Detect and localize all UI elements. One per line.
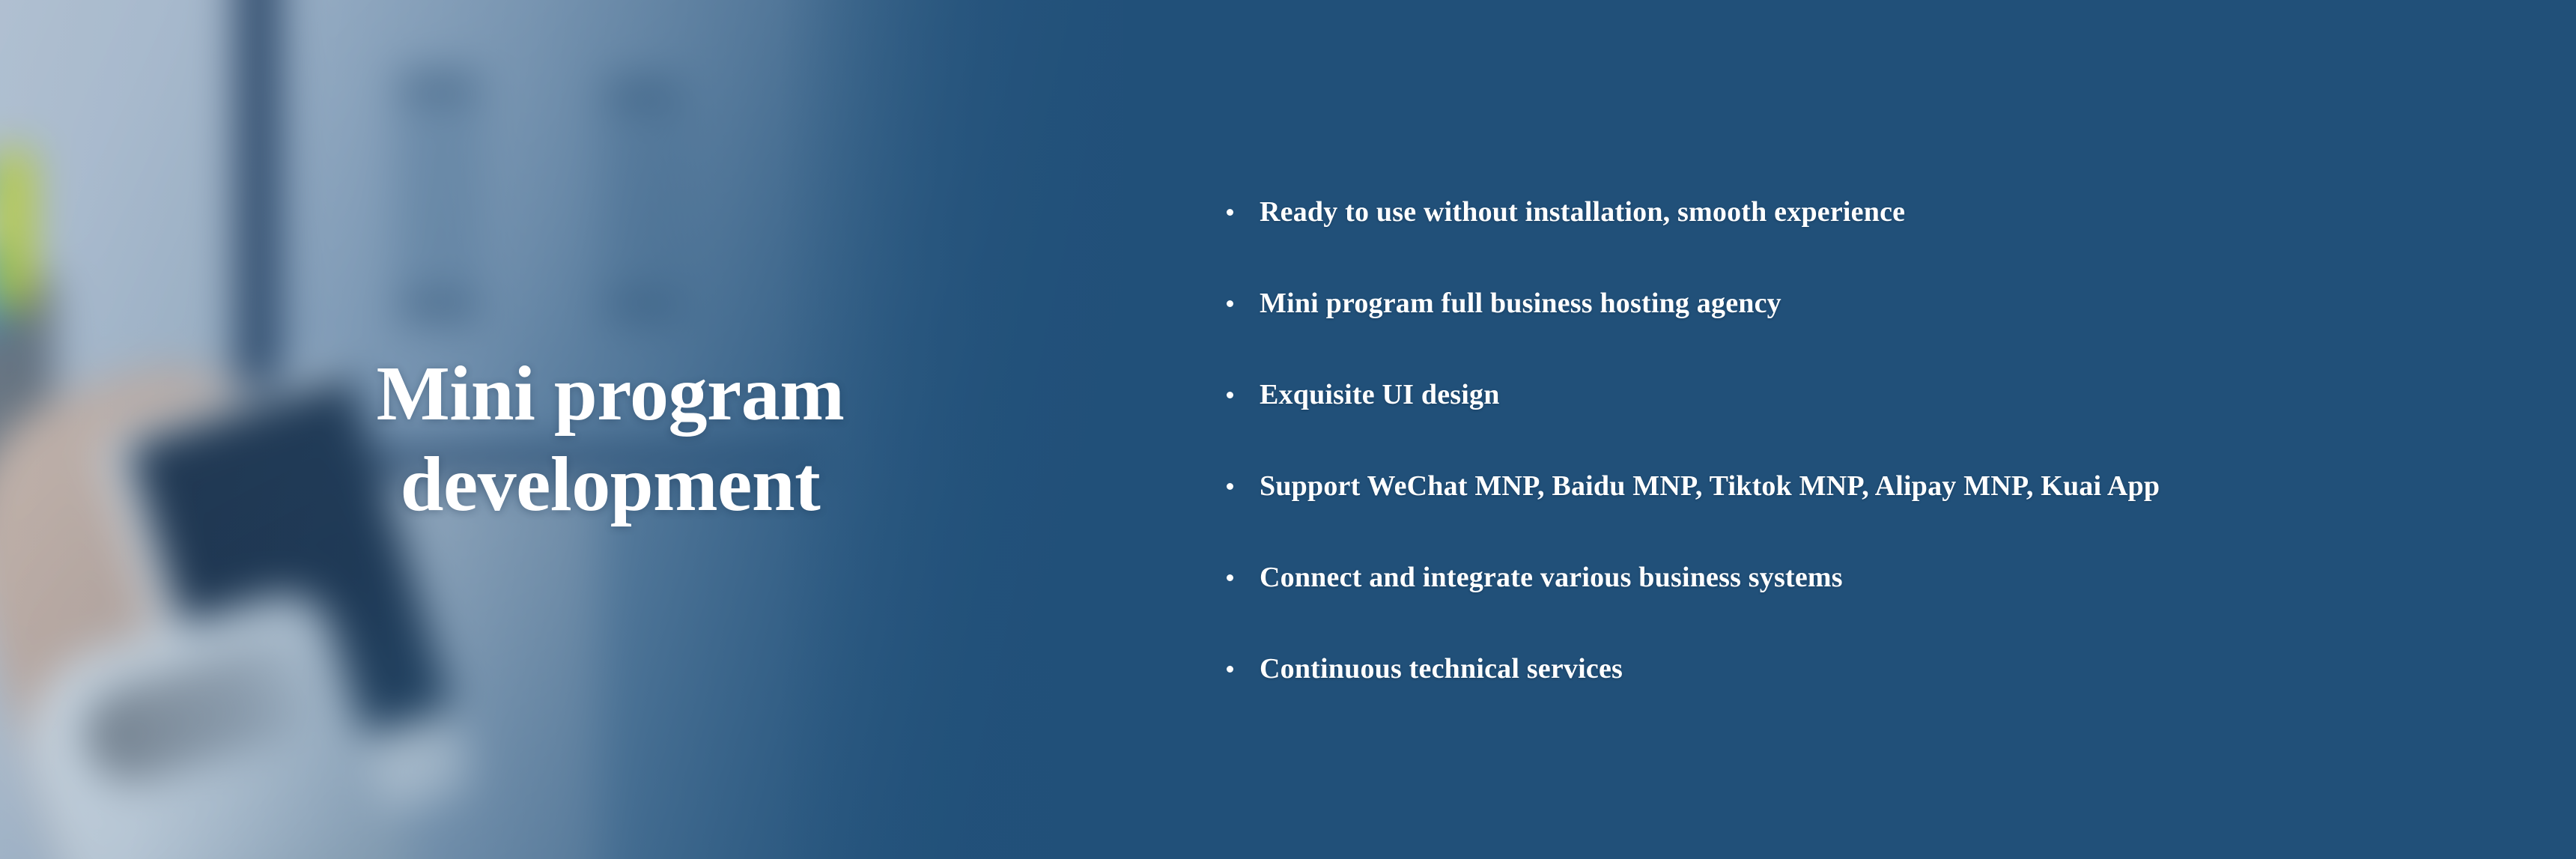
list-item-label: Exquisite UI design	[1260, 379, 1500, 410]
bullet-dot-icon	[1227, 666, 1233, 673]
list-item: Ready to use without installation, smoot…	[1222, 174, 2495, 250]
list-item-label: Ready to use without installation, smoot…	[1260, 196, 1905, 228]
mini-program-banner: Mini program development Ready to use wi…	[0, 0, 2576, 859]
bullet-dot-icon	[1227, 300, 1233, 307]
bullet-dot-icon	[1227, 392, 1233, 398]
list-item-label: Connect and integrate various business s…	[1260, 562, 1843, 593]
list-item-label: Continuous technical services	[1260, 653, 1623, 685]
page-title: Mini program development	[112, 348, 1108, 530]
list-item: Support WeChat MNP, Baidu MNP, Tiktok MN…	[1222, 448, 2495, 524]
list-item: Exquisite UI design	[1222, 356, 2495, 433]
list-item: Continuous technical services	[1222, 631, 2495, 707]
bullet-dot-icon	[1227, 483, 1233, 490]
bullet-dot-icon	[1227, 209, 1233, 216]
feature-list: Ready to use without installation, smoot…	[1222, 174, 2495, 707]
list-item-label: Support WeChat MNP, Baidu MNP, Tiktok MN…	[1260, 470, 2160, 502]
bullet-dot-icon	[1227, 574, 1233, 581]
list-item: Connect and integrate various business s…	[1222, 539, 2495, 616]
list-item-label: Mini program full business hosting agenc…	[1260, 288, 1781, 319]
list-item: Mini program full business hosting agenc…	[1222, 265, 2495, 342]
